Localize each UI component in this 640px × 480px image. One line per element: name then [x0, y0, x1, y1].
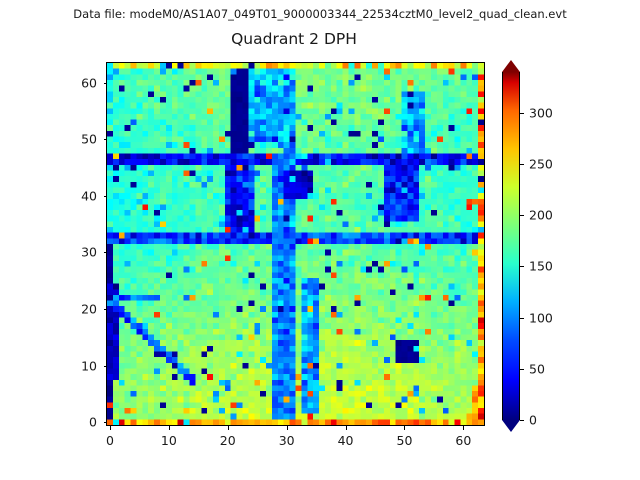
x-tick-mark: [463, 426, 464, 430]
colorbar-tick-label: 0: [529, 413, 537, 428]
y-tick-mark: [104, 309, 108, 310]
y-tick-label: 40: [81, 188, 97, 203]
colorbar-tick-label: 100: [529, 310, 553, 325]
y-tick-label: 30: [81, 245, 97, 260]
x-tick-label: 20: [220, 433, 236, 448]
colorbar-under-arrow-icon: [502, 420, 520, 432]
y-tick-mark: [104, 139, 108, 140]
x-tick-label: 0: [106, 433, 114, 448]
y-tick-label: 60: [81, 75, 97, 90]
y-tick-mark: [104, 252, 108, 253]
x-tick-label: 60: [455, 433, 471, 448]
y-tick-mark: [104, 366, 108, 367]
y-tick-mark: [104, 83, 108, 84]
x-tick-mark: [287, 426, 288, 430]
x-tick-label: 10: [161, 433, 177, 448]
y-tick-mark: [104, 196, 108, 197]
colorbar-tick-mark: [520, 318, 524, 319]
heatmap-image[interactable]: [107, 63, 484, 425]
x-tick-label: 40: [338, 433, 354, 448]
x-tick-mark: [404, 426, 405, 430]
colorbar-tick-mark: [520, 420, 524, 421]
x-tick-label: 50: [397, 433, 413, 448]
y-tick-label: 0: [89, 415, 97, 430]
y-tick-label: 50: [81, 132, 97, 147]
y-tick-label: 10: [81, 358, 97, 373]
colorbar-tick-mark: [520, 164, 524, 165]
colorbar-tick-mark: [520, 369, 524, 370]
colorbar-tick-label: 250: [529, 157, 553, 172]
y-tick-mark: [104, 422, 108, 423]
x-tick-mark: [110, 426, 111, 430]
colorbar-over-arrow-icon: [502, 60, 520, 72]
chart-title: Quadrant 2 DPH: [0, 30, 588, 48]
x-tick-mark: [346, 426, 347, 430]
x-tick-mark: [169, 426, 170, 430]
colorbar[interactable]: 050100150200250300: [502, 60, 622, 434]
colorbar-tick-label: 150: [529, 259, 553, 274]
colorbar-tick-label: 300: [529, 105, 553, 120]
colorbar-gradient: [502, 72, 520, 420]
y-tick-label: 20: [81, 302, 97, 317]
datafile-caption: Data file: modeM0/AS1A07_049T01_90000033…: [0, 7, 640, 21]
colorbar-tick-mark: [520, 113, 524, 114]
colorbar-tick-mark: [520, 266, 524, 267]
colorbar-tick-mark: [520, 215, 524, 216]
colorbar-tick-label: 50: [529, 361, 545, 376]
figure-canvas: Data file: modeM0/AS1A07_049T01_90000033…: [0, 0, 640, 480]
x-tick-mark: [228, 426, 229, 430]
colorbar-tick-label: 200: [529, 208, 553, 223]
x-tick-label: 30: [279, 433, 295, 448]
heatmap-axes[interactable]: 01020304050600102030405060: [106, 62, 485, 426]
